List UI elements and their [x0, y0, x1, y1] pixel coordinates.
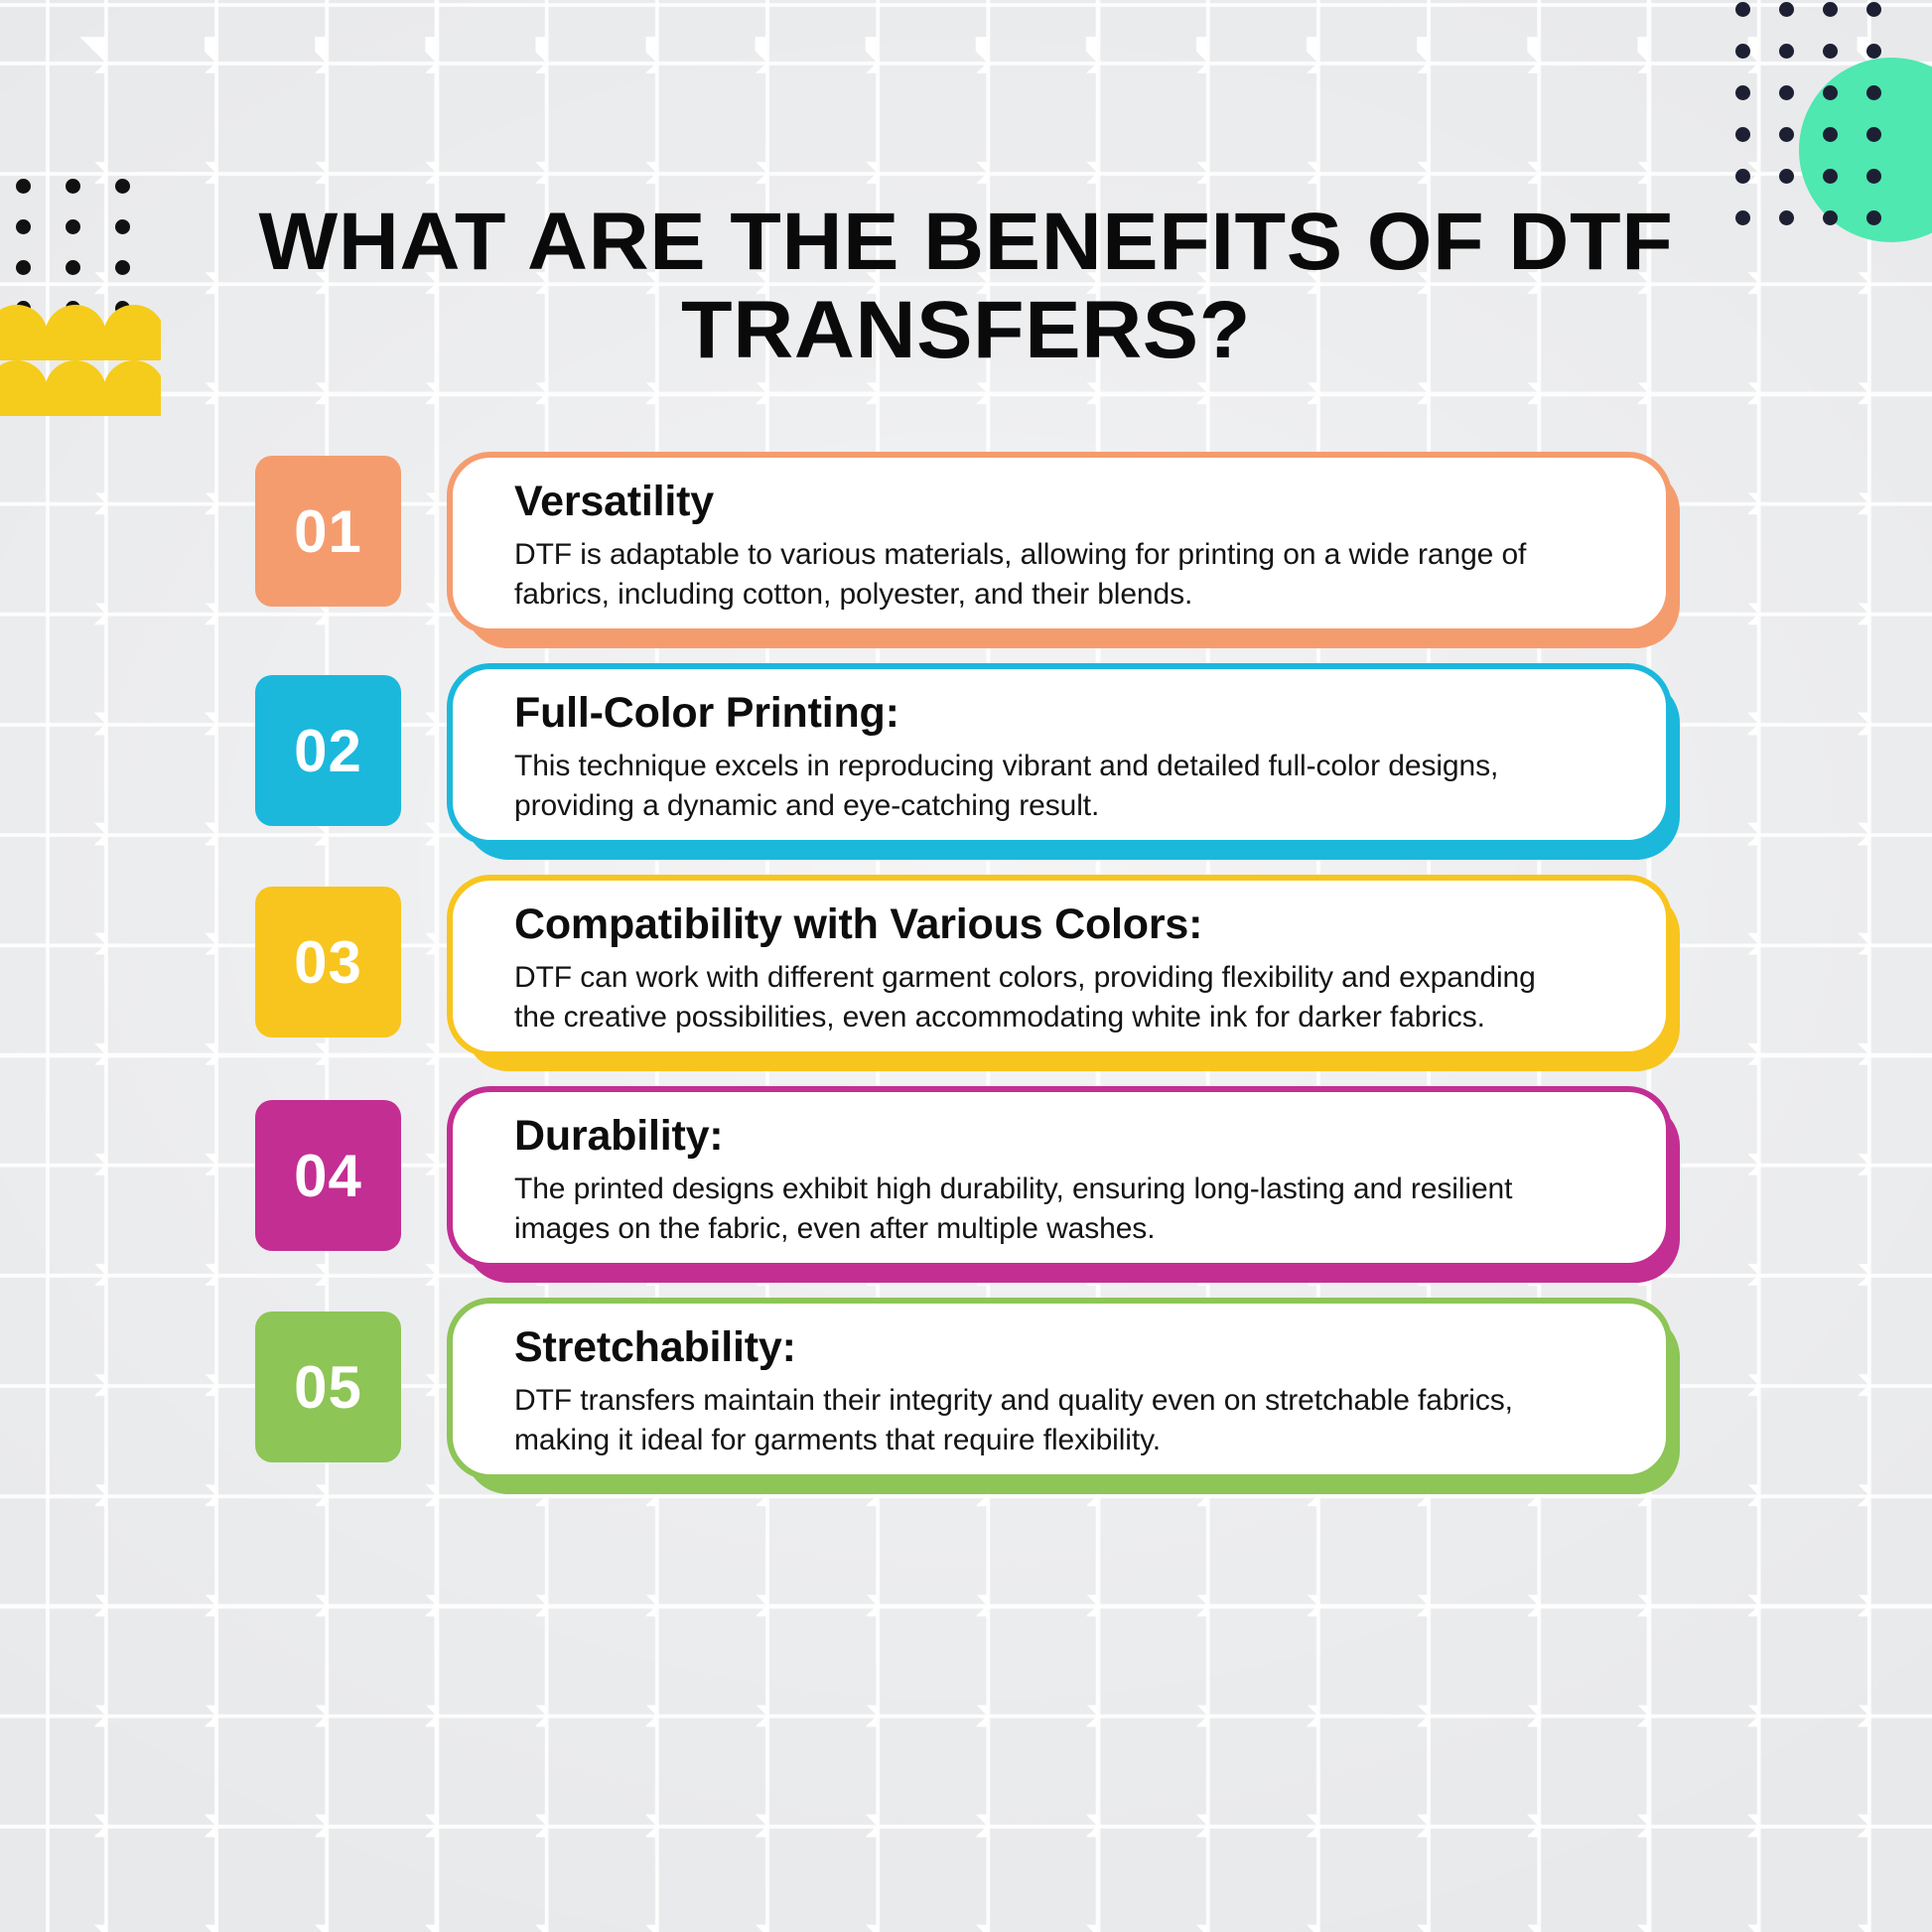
decorative-dot — [115, 179, 130, 194]
benefit-card: Durability:The printed designs exhibit h… — [447, 1086, 1672, 1269]
decorative-dot — [1779, 2, 1794, 17]
benefit-row: 04Durability:The printed designs exhibit… — [0, 1086, 1932, 1298]
decorative-dot — [1823, 169, 1838, 184]
decorative-dot — [1823, 85, 1838, 100]
benefit-number-label: 02 — [294, 717, 362, 785]
decorative-dot — [1779, 169, 1794, 184]
benefit-description: This technique excels in reproducing vib… — [514, 747, 1577, 826]
benefit-row: 02Full-Color Printing:This technique exc… — [0, 663, 1932, 875]
benefit-row: 01VersatilityDTF is adaptable to various… — [0, 452, 1932, 663]
decorative-dot — [16, 179, 31, 194]
decorative-dot — [1866, 127, 1881, 142]
benefit-row: 05Stretchability:DTF transfers maintain … — [0, 1298, 1932, 1509]
benefit-card: Full-Color Printing:This technique excel… — [447, 663, 1672, 846]
decorative-dot — [1779, 44, 1794, 59]
benefit-heading: Compatibility with Various Colors: — [514, 902, 1632, 947]
benefit-card: VersatilityDTF is adaptable to various m… — [447, 452, 1672, 634]
benefit-description: DTF transfers maintain their integrity a… — [514, 1381, 1577, 1460]
decorative-dot — [1735, 85, 1750, 100]
decorative-dot — [1735, 2, 1750, 17]
benefit-heading: Stretchability: — [514, 1325, 1632, 1370]
benefit-number-badge: 04 — [255, 1100, 401, 1251]
decorative-dot — [1779, 127, 1794, 142]
benefit-description: DTF can work with different garment colo… — [514, 958, 1577, 1037]
benefit-heading: Durability: — [514, 1114, 1632, 1159]
decorative-dot — [1735, 169, 1750, 184]
decorative-dot — [1735, 44, 1750, 59]
page-title-line-2: TRANSFERS? — [207, 287, 1726, 375]
benefit-number-label: 04 — [294, 1142, 362, 1210]
benefit-card: Stretchability:DTF transfers maintain th… — [447, 1298, 1672, 1480]
benefits-list: 01VersatilityDTF is adaptable to various… — [0, 452, 1932, 1509]
benefit-number-badge: 05 — [255, 1311, 401, 1462]
benefit-number-badge: 01 — [255, 456, 401, 607]
benefit-heading: Full-Color Printing: — [514, 691, 1632, 736]
benefit-number-label: 05 — [294, 1353, 362, 1422]
infographic-poster: WHAT ARE THE BENEFITS OF DTF TRANSFERS? … — [0, 0, 1932, 1932]
benefit-description: DTF is adaptable to various materials, a… — [514, 535, 1577, 615]
decorative-dot — [1779, 85, 1794, 100]
page-title: WHAT ARE THE BENEFITS OF DTF TRANSFERS? — [0, 199, 1932, 374]
page-title-line-1: WHAT ARE THE BENEFITS OF DTF — [207, 199, 1726, 287]
decorative-dot — [66, 179, 80, 194]
decorative-dot — [1866, 44, 1881, 59]
decorative-dot — [1866, 85, 1881, 100]
benefit-number-badge: 03 — [255, 887, 401, 1037]
benefit-row: 03Compatibility with Various Colors:DTF … — [0, 875, 1932, 1086]
benefit-number-label: 01 — [294, 497, 362, 566]
benefit-heading: Versatility — [514, 480, 1632, 524]
decorative-dot — [1735, 127, 1750, 142]
decorative-dot — [1823, 127, 1838, 142]
benefit-description: The printed designs exhibit high durabil… — [514, 1170, 1577, 1249]
benefit-number-badge: 02 — [255, 675, 401, 826]
decorative-dot — [1866, 2, 1881, 17]
decorative-dot — [1823, 2, 1838, 17]
benefit-number-label: 03 — [294, 928, 362, 997]
benefit-card: Compatibility with Various Colors:DTF ca… — [447, 875, 1672, 1057]
decorative-dot — [1866, 169, 1881, 184]
decorative-dot — [1823, 44, 1838, 59]
